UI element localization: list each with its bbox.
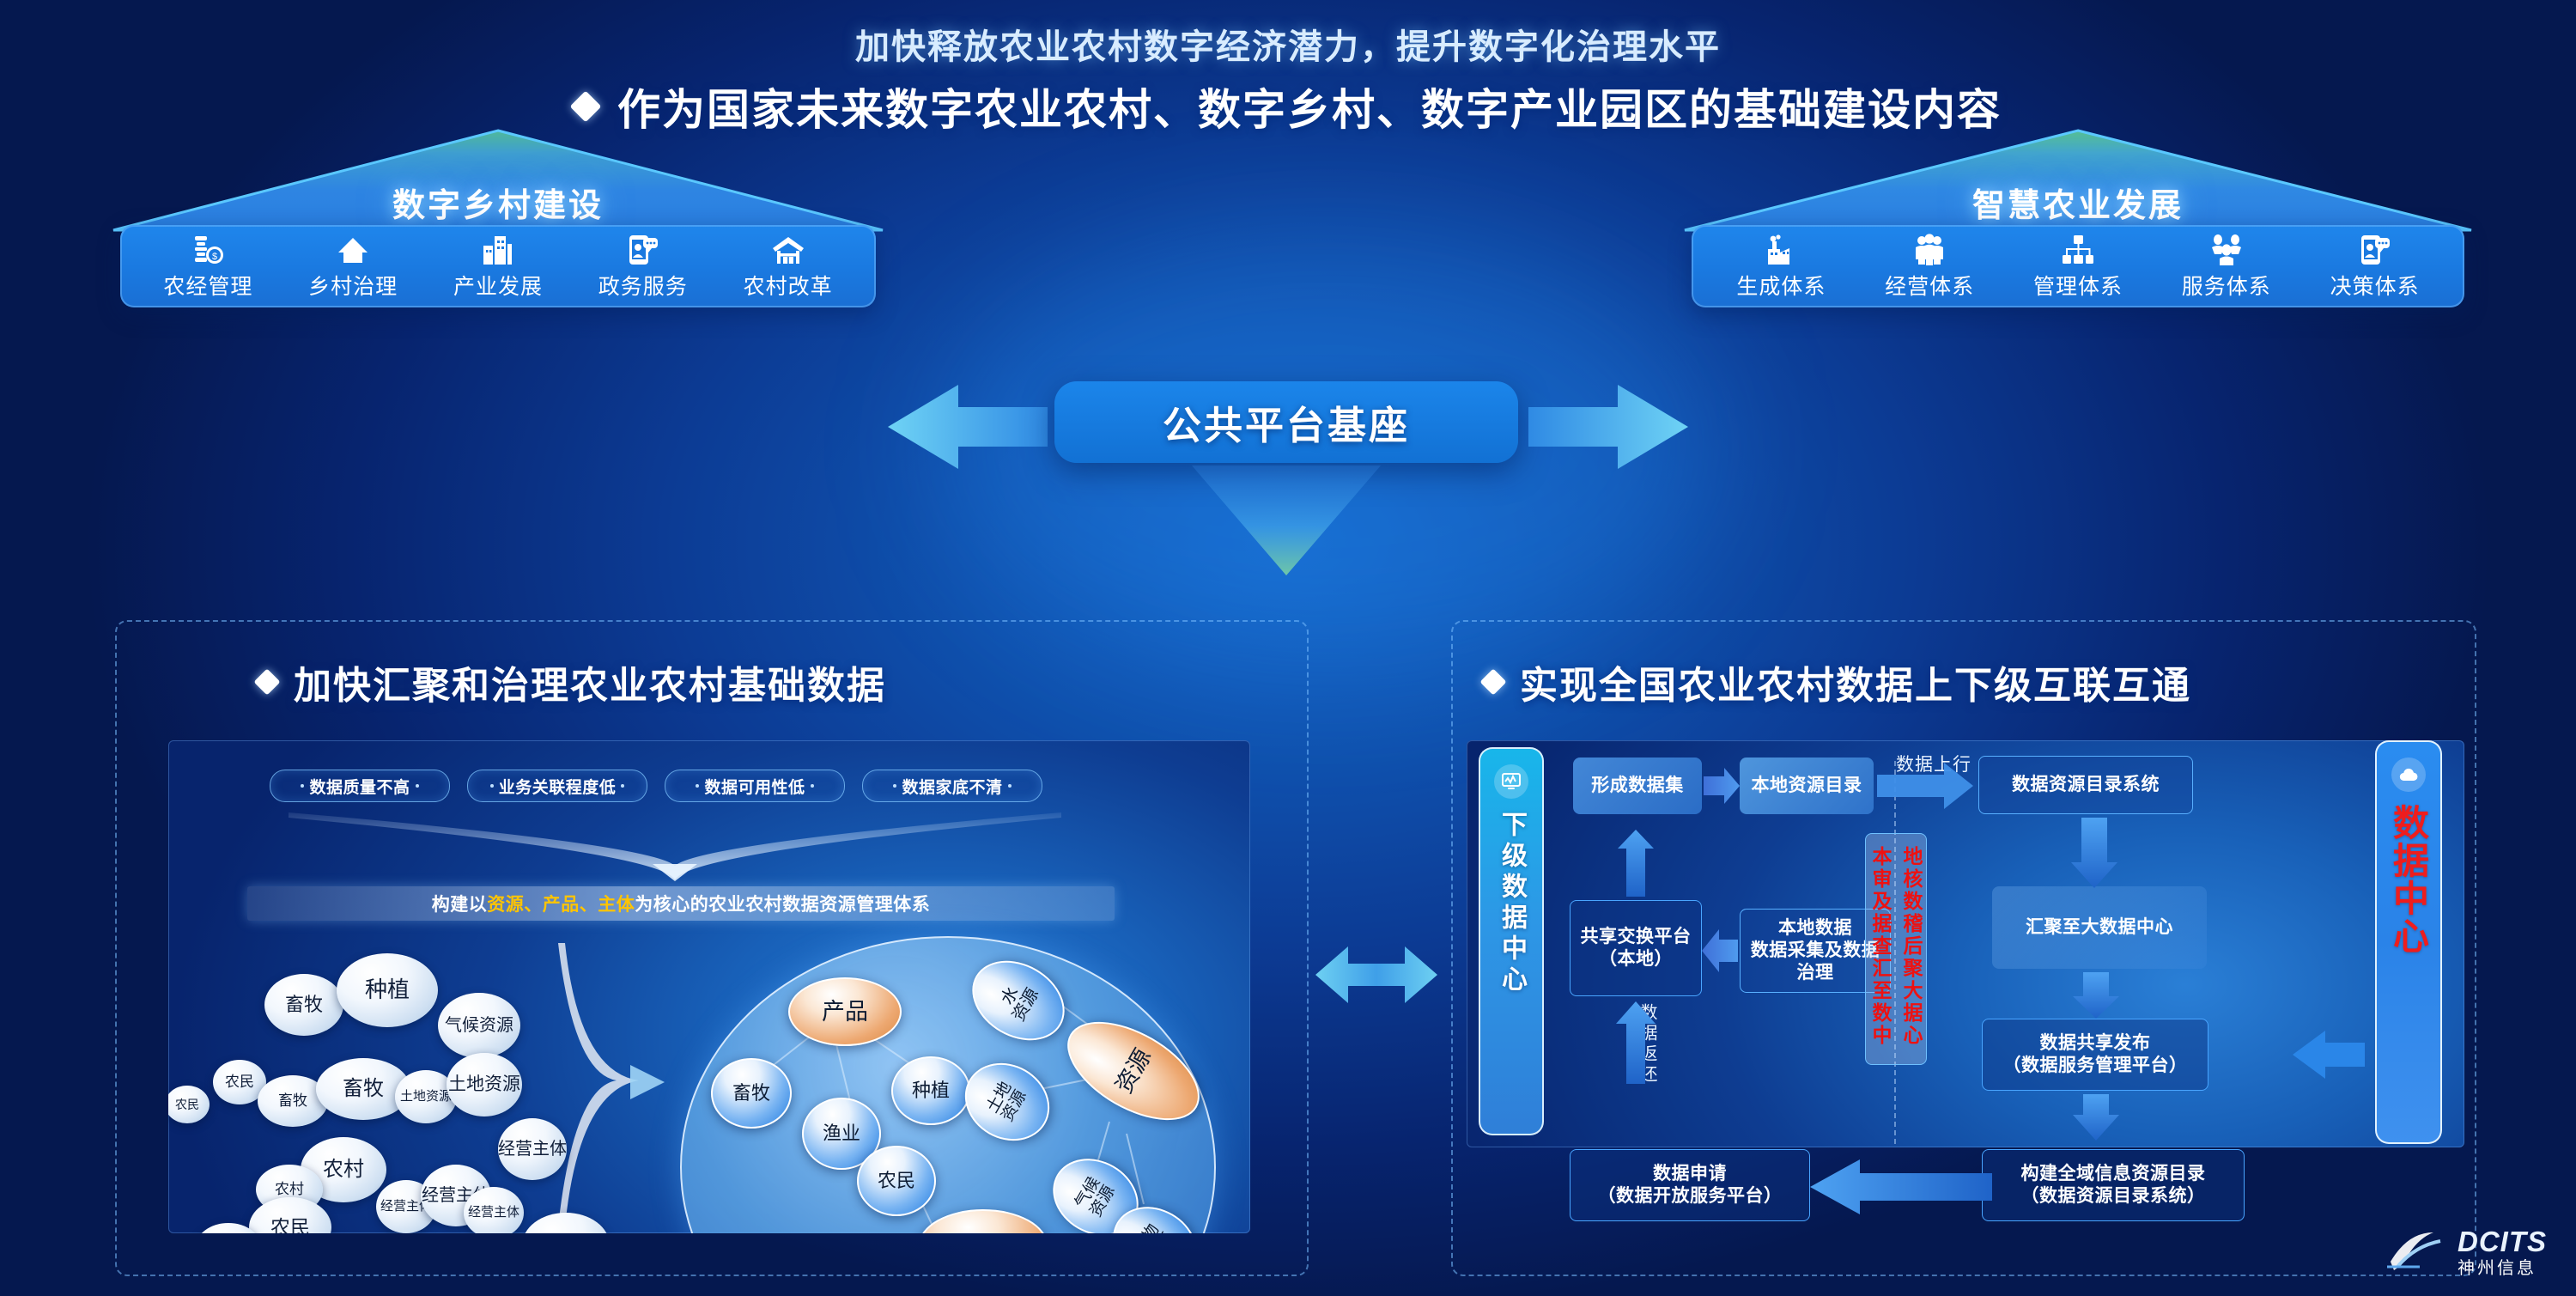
factory-icon bbox=[1764, 232, 1798, 266]
feature-label: 决策体系 bbox=[2330, 270, 2420, 301]
banner-prefix: 构建以 bbox=[432, 891, 488, 916]
slide-canvas: 加快释放农业农村数字经济潜力，提升数字化治理水平 作为国家未来数字农业农村、数字… bbox=[0, 0, 2576, 1296]
feature-item-management-system[interactable]: 管理体系 bbox=[2026, 232, 2129, 301]
flow-box-label: 数据共享发布（数据服务管理平台） bbox=[2003, 1032, 2188, 1078]
feature-label: 生成体系 bbox=[1736, 270, 1826, 301]
feature-label: 农村改革 bbox=[744, 270, 833, 301]
mobile-service-icon bbox=[626, 232, 660, 266]
house-feature-bar: $ 农经管理 乡村治理 产业发展 政务服务 bbox=[120, 225, 876, 307]
flow-box-form-dataset[interactable]: 形成数据集 bbox=[1573, 758, 1702, 814]
feature-label: 产业发展 bbox=[453, 270, 543, 301]
arrow-down-icon bbox=[1192, 465, 1381, 577]
feature-label: 经营体系 bbox=[1885, 270, 1974, 301]
feature-item-operation-system[interactable]: 经营体系 bbox=[1878, 232, 1981, 301]
label-data-return: 数据返还 bbox=[1635, 1003, 1660, 1086]
banner-suffix: 为核心的农业农村数据资源管理体系 bbox=[635, 891, 930, 916]
feature-item-production-system[interactable]: 生成体系 bbox=[1729, 232, 1832, 301]
chaos-bubble: 渔业 bbox=[522, 1213, 610, 1233]
panel-link-arrow-icon bbox=[1314, 928, 1439, 1022]
left-panel-title-text: 加快汇聚和治理农业农村基础数据 bbox=[294, 654, 886, 709]
chaos-bubble: 经营主体 bbox=[464, 1187, 524, 1233]
left-panel-title: 加快汇聚和治理农业农村基础数据 bbox=[258, 654, 886, 709]
chaos-bubble: 土地资源 bbox=[447, 1053, 522, 1117]
bullet-dot-icon bbox=[490, 784, 494, 788]
feature-label: 农经管理 bbox=[163, 270, 252, 301]
red-note-column-1: 地核数稽后聚大据心 bbox=[1897, 846, 1926, 1047]
svg-text:$: $ bbox=[212, 252, 217, 262]
issue-chip-label: 数据质量不高 bbox=[309, 775, 410, 798]
sidebar-lower-data-center-label: 下级数据中心 bbox=[1492, 811, 1530, 996]
feature-item-rural-reform[interactable]: 农村改革 bbox=[737, 232, 840, 301]
flow-box-label: 形成数据集 bbox=[1591, 775, 1684, 797]
sidebar-lower-data-center[interactable]: 下级数据中心 bbox=[1479, 747, 1544, 1135]
right-panel-board: 下级数据中心 数据中心 形成数据集 本地资源目录 数据资源目录系统 共享交换平台… bbox=[1467, 740, 2464, 1147]
feature-label: 乡村治理 bbox=[308, 270, 398, 301]
label-data-upstream: 数据上行 bbox=[1896, 751, 1971, 776]
arrow-left-icon bbox=[884, 380, 1048, 474]
people-group-icon bbox=[1912, 232, 1947, 266]
diamond-bullet-icon bbox=[253, 668, 280, 695]
house-card-digital-village: 数字乡村建设 $ 农经管理 乡村治理 产业发展 bbox=[112, 129, 884, 313]
house-card-smart-agriculture: 智慧农业发展 生成体系 经营体系 管理体系 bbox=[1683, 129, 2473, 313]
chaos-bubble: 农民 bbox=[168, 1086, 210, 1123]
bullet-dot-icon bbox=[811, 784, 814, 788]
flow-box-local-catalog[interactable]: 本地资源目录 bbox=[1740, 758, 1874, 814]
house-feature-bar: 生成体系 经营体系 管理体系 服务体系 bbox=[1692, 225, 2464, 307]
bullet-dot-icon bbox=[1008, 784, 1012, 788]
issue-chip[interactable]: 数据家底不清 bbox=[862, 770, 1042, 802]
flow-box-catalog-system[interactable]: 数据资源目录系统 bbox=[1978, 756, 2193, 814]
issue-chip[interactable]: 数据可用性低 bbox=[665, 770, 845, 802]
bullet-dot-icon bbox=[696, 784, 699, 788]
sidebar-data-center-label: 数据中心 bbox=[2383, 804, 2435, 955]
left-panel-board: 数据质量不高 业务关联程度低 数据可用性低 数据家底不清 bbox=[168, 740, 1250, 1233]
issue-chip-label: 数据可用性低 bbox=[704, 775, 805, 798]
flow-box-aggregate[interactable]: 汇聚至大数据中心 bbox=[1992, 886, 2207, 969]
buildings-icon bbox=[481, 232, 515, 266]
chaotic-bubble-cluster: 畜牧种植气候资源农民农民畜牧畜牧土地资源土地资源经营主体农村农村经营主体经营主体… bbox=[168, 940, 627, 1233]
flow-box-label: 本地资源目录 bbox=[1752, 775, 1862, 797]
feature-item-service-system[interactable]: 服务体系 bbox=[2175, 232, 2278, 301]
core-banner: 构建以 资源、产品、主体 为核心的农业农村数据资源管理体系 bbox=[247, 886, 1115, 921]
diamond-bullet-icon bbox=[570, 91, 602, 123]
data-node-bubble: 农民 bbox=[857, 1146, 936, 1216]
monitor-chart-icon bbox=[1494, 764, 1528, 799]
flow-box-data-apply[interactable]: 数据申请（数据开放服务平台） bbox=[1570, 1149, 1810, 1221]
flow-box-publish[interactable]: 数据共享发布（数据服务管理平台） bbox=[1982, 1019, 2208, 1091]
people-service-icon bbox=[2209, 232, 2244, 266]
chaos-bubble: 经营主体 bbox=[498, 1118, 567, 1180]
bullet-dot-icon bbox=[621, 784, 624, 788]
platform-label: 公共平台基座 bbox=[1163, 394, 1410, 450]
feature-label: 服务体系 bbox=[2182, 270, 2271, 301]
house-roof-label: 智慧农业发展 bbox=[1683, 179, 2473, 226]
feature-item-decision-system[interactable]: 决策体系 bbox=[2324, 232, 2427, 301]
issue-chip-label: 数据家底不清 bbox=[902, 775, 1002, 798]
issue-chip[interactable]: 业务关联程度低 bbox=[467, 770, 647, 802]
bottom-flow-arrow bbox=[1803, 1158, 1992, 1218]
chaos-bubble: 种植 bbox=[337, 953, 438, 1027]
sidebar-data-center[interactable]: 数据中心 bbox=[2375, 740, 2442, 1144]
data-node-bubble: 产品 bbox=[788, 977, 902, 1046]
mobile-decision-icon bbox=[2358, 232, 2392, 266]
dcits-logo-icon bbox=[2385, 1227, 2449, 1277]
cloud-icon bbox=[2391, 758, 2426, 792]
feature-label: 政务服务 bbox=[598, 270, 688, 301]
money-coin-icon: $ bbox=[191, 232, 225, 266]
data-node-bubble: 种植 bbox=[891, 1056, 970, 1125]
flow-box-label: 汇聚至大数据中心 bbox=[2026, 916, 2173, 939]
village-house-icon bbox=[771, 232, 805, 266]
house-roof-label: 数字乡村建设 bbox=[112, 179, 884, 226]
bullet-dot-icon bbox=[301, 784, 304, 788]
red-note-box: 地核数稽后聚大据心 本审及据查汇至数中 bbox=[1865, 833, 1927, 1065]
chaos-bubble: 气候资源 bbox=[438, 993, 520, 1058]
bullet-dot-icon bbox=[893, 784, 896, 788]
brand-cn: 神州信息 bbox=[2458, 1260, 2547, 1277]
flow-box-label: 共享交换平台（本地） bbox=[1581, 926, 1692, 971]
chaos-bubble: 畜牧 bbox=[264, 974, 343, 1036]
issue-chip-label: 业务关联程度低 bbox=[499, 775, 617, 798]
flow-box-exchange-platform[interactable]: 共享交换平台（本地） bbox=[1570, 900, 1702, 996]
feature-label: 管理体系 bbox=[2033, 270, 2123, 301]
org-chart-icon bbox=[2061, 232, 2095, 266]
right-panel-title: 实现全国农业农村数据上下级互联互通 bbox=[1484, 654, 2191, 709]
page-title: 加快释放农业农村数字经济潜力，提升数字化治理水平 bbox=[0, 19, 2576, 69]
banner-highlight: 资源、产品、主体 bbox=[487, 891, 635, 916]
flow-box-label: 本地数据数据采集及数据治理 bbox=[1747, 917, 1883, 985]
flow-box-label: 数据申请（数据开放服务平台） bbox=[1598, 1163, 1783, 1208]
organized-node-cluster: 产品水资源资源畜牧种植土地资源渔业农民气候资源生物资源主体农村经营主体 bbox=[680, 936, 1212, 1233]
flow-box-label: 数据资源目录系统 bbox=[2012, 774, 2160, 796]
right-panel-title-text: 实现全国农业农村数据上下级互联互通 bbox=[1520, 654, 2191, 709]
bullet-dot-icon bbox=[416, 784, 419, 788]
data-node-bubble: 畜牧 bbox=[711, 1058, 792, 1129]
feature-item-gov-service[interactable]: 政务服务 bbox=[592, 232, 695, 301]
feature-item-village-governance[interactable]: 乡村治理 bbox=[301, 232, 404, 301]
flow-box-build-catalog[interactable]: 构建全域信息资源目录（数据资源目录系统） bbox=[1982, 1149, 2245, 1221]
diamond-bullet-icon bbox=[1479, 668, 1506, 695]
brand-en: DCITS bbox=[2458, 1227, 2547, 1256]
brand-logo: DCITS 神州信息 bbox=[2385, 1227, 2547, 1277]
funnel-arrow-icon bbox=[289, 812, 1061, 881]
home-icon bbox=[336, 232, 370, 266]
red-note-column-2: 本审及据查汇至数中 bbox=[1866, 846, 1895, 1047]
feature-item-agri-economy[interactable]: $ 农经管理 bbox=[156, 232, 259, 301]
feature-item-industry-development[interactable]: 产业发展 bbox=[447, 232, 550, 301]
platform-badge[interactable]: 公共平台基座 bbox=[1054, 381, 1518, 463]
arrow-right-icon bbox=[1528, 380, 1692, 474]
flow-box-label: 构建全域信息资源目录（数据资源目录系统） bbox=[2021, 1163, 2206, 1208]
issue-chip[interactable]: 数据质量不高 bbox=[270, 770, 450, 802]
